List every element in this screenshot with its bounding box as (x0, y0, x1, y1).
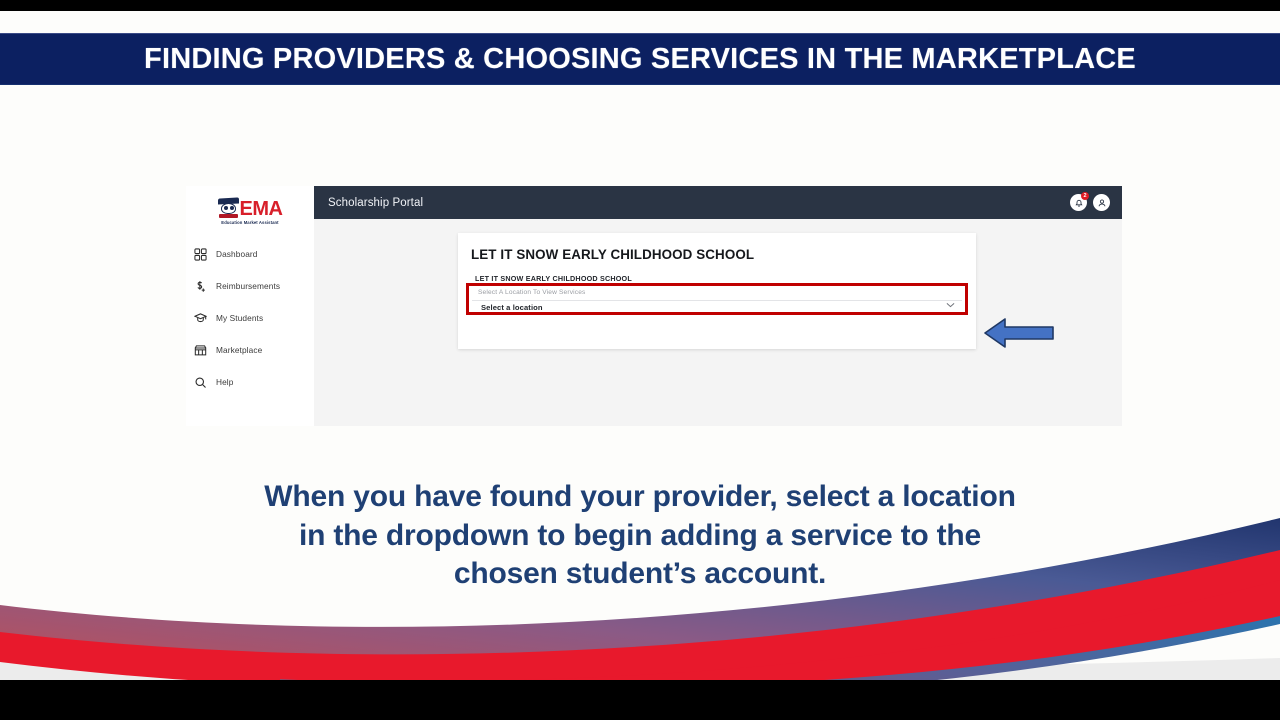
location-select-value[interactable]: Select a location (481, 303, 543, 312)
app-topbar: Scholarship Portal 2 (314, 186, 1122, 219)
caption-line-2: in the dropdown to begin adding a servic… (0, 517, 1280, 556)
sidebar-item-dashboard[interactable]: Dashboard (186, 238, 314, 270)
topbar-icon-group: 2 (1070, 194, 1110, 211)
app-main-panel: Scholarship Portal 2 (314, 186, 1122, 426)
location-field-highlight: Select A Location To View Services Selec… (466, 283, 968, 315)
sidebar-item-help[interactable]: Help (186, 366, 314, 398)
sidebar-item-label: Dashboard (216, 249, 258, 259)
brand-logo: EMA Education Market Assistant (186, 186, 314, 228)
storefront-icon (193, 343, 207, 357)
grid-dashboard-icon (193, 247, 207, 261)
slide-title-bar: FINDING PROVIDERS & CHOOSING SERVICES IN… (0, 33, 1280, 85)
provider-detail-card: LET IT SNOW EARLY CHILDHOOD SCHOOL LET I… (458, 233, 976, 349)
dollar-plus-icon (193, 279, 207, 293)
field-divider (472, 300, 962, 301)
search-icon (193, 375, 207, 389)
bell-icon[interactable]: 2 (1070, 194, 1087, 211)
slide-caption: When you have found your provider, selec… (0, 478, 1280, 594)
owl-graduate-icon (218, 197, 239, 219)
notification-badge: 2 (1081, 192, 1089, 200)
brand-name: EMA (240, 199, 283, 219)
brand-tagline: Education Market Assistant (218, 220, 283, 225)
user-avatar-icon[interactable] (1093, 194, 1110, 211)
provider-subtitle: LET IT SNOW EARLY CHILDHOOD SCHOOL (475, 274, 963, 283)
left-arrow-annotation-icon (983, 316, 1055, 350)
sidebar-nav: Dashboard Reimbursements (186, 238, 314, 398)
graduation-cap-icon (193, 311, 207, 325)
app-sidebar: EMA Education Market Assistant (186, 186, 314, 426)
slide-page: FINDING PROVIDERS & CHOOSING SERVICES IN… (0, 11, 1280, 700)
sidebar-item-label: My Students (216, 313, 263, 323)
sidebar-item-label: Help (216, 377, 233, 387)
sidebar-item-label: Reimbursements (216, 281, 280, 291)
slide-title: FINDING PROVIDERS & CHOOSING SERVICES IN… (144, 43, 1136, 76)
letterbox-bottom (0, 680, 1280, 700)
sidebar-item-marketplace[interactable]: Marketplace (186, 334, 314, 366)
caption-line-1: When you have found your provider, selec… (0, 478, 1280, 517)
provider-title: LET IT SNOW EARLY CHILDHOOD SCHOOL (471, 247, 963, 262)
sidebar-item-label: Marketplace (216, 345, 262, 355)
caption-line-3: chosen student’s account. (0, 555, 1280, 594)
chevron-down-icon[interactable] (946, 302, 955, 308)
location-field-label: Select A Location To View Services (478, 289, 586, 296)
sidebar-item-my-students[interactable]: My Students (186, 302, 314, 334)
slide-canvas: FINDING PROVIDERS & CHOOSING SERVICES IN… (0, 0, 1280, 720)
application-screenshot: EMA Education Market Assistant (186, 186, 1122, 426)
portal-title: Scholarship Portal (328, 197, 423, 209)
sidebar-item-reimbursements[interactable]: Reimbursements (186, 270, 314, 302)
